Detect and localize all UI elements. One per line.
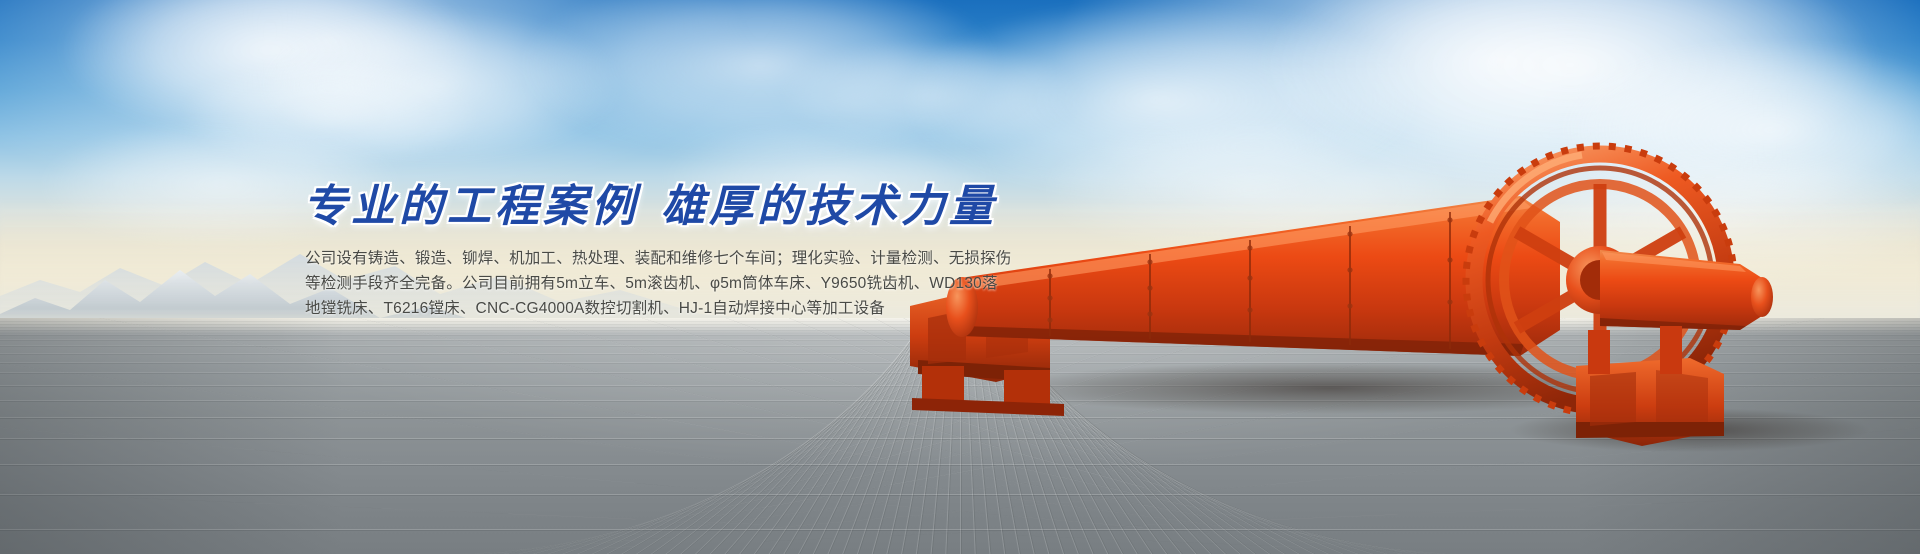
description-line-2: 等检测手段齐全完备。公司目前拥有5m立车、5m滚齿机、φ5m筒体车床、Y9650…: [305, 271, 1363, 296]
headline-part-1: 专业的工程案例: [303, 182, 639, 231]
cloud-shape: [180, 60, 480, 170]
banner-copy: 专业的工程案例雄厚的技术力量 公司设有铸造、锻造、铆焊、机加工、热处理、装配和维…: [303, 182, 1363, 321]
page-title: 专业的工程案例雄厚的技术力量: [303, 182, 1363, 232]
banner-description: 公司设有铸造、锻造、铆焊、机加工、热处理、装配和维修七个车间；理化实验、计量检测…: [305, 246, 1363, 321]
description-line-3: 地镗铣床、T6216镗床、CNC-CG4000A数控切割机、HJ-1自动焊接中心…: [305, 296, 1363, 321]
description-line-1: 公司设有铸造、锻造、铆焊、机加工、热处理、装配和维修七个车间；理化实验、计量检测…: [305, 246, 1363, 271]
mill-discharge-cone: [1600, 250, 1773, 330]
cloud-shape: [60, 0, 480, 140]
hero-banner: 专业的工程案例雄厚的技术力量 公司设有铸造、锻造、铆焊、机加工、热处理、装配和维…: [0, 0, 1920, 554]
cloud-shape: [260, 10, 620, 160]
headline-part-2: 雄厚的技术力量: [661, 182, 997, 231]
